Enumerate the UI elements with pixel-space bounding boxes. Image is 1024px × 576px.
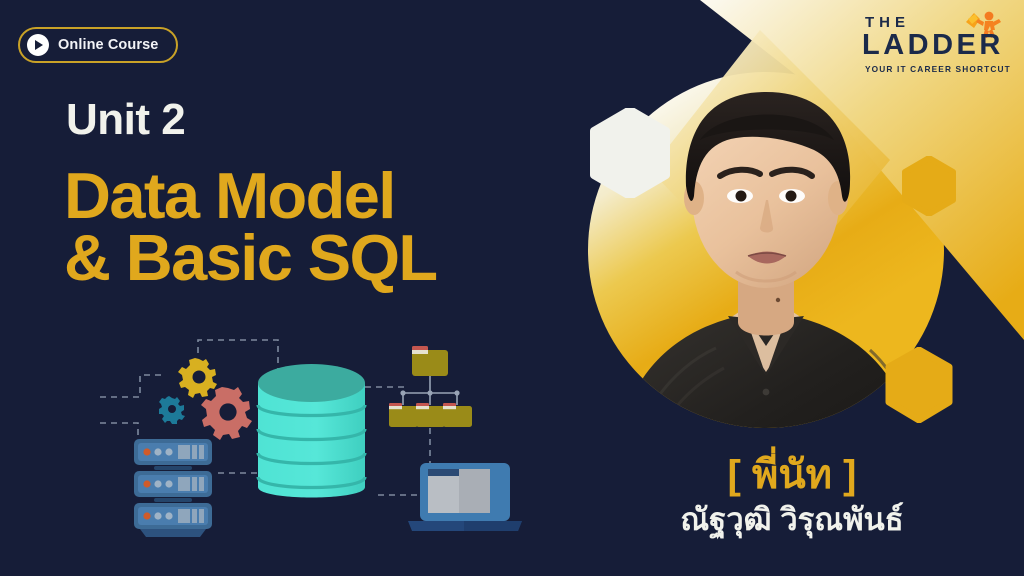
hexagon-cream-icon xyxy=(588,108,672,198)
logo-word-ladder: LADDER xyxy=(862,31,1004,60)
gears-icon xyxy=(159,358,252,440)
title-line-2: & Basic SQL xyxy=(64,227,584,289)
database-illustration: DATABASE xyxy=(100,335,540,560)
logo-tagline: YOUR IT CAREER SHORTCUT xyxy=(865,64,1011,74)
server-rack-icon xyxy=(134,439,212,537)
hexagon-gold-small-icon xyxy=(901,156,957,216)
online-course-label: Online Course xyxy=(58,37,158,53)
slide-canvas: THE LADDER YOUR IT CAREER SHORTCUT Onlin… xyxy=(0,0,1024,576)
speaker-nickname: [ พี่นัท ] xyxy=(560,455,1024,495)
page-title: Data Model & Basic SQL xyxy=(64,165,584,289)
unit-number: Unit 2 xyxy=(66,98,185,142)
play-icon xyxy=(27,34,49,56)
online-course-badge[interactable]: Online Course xyxy=(18,27,178,63)
hexagon-gold-large-icon xyxy=(884,347,954,423)
brand-logo[interactable]: THE LADDER YOUR IT CAREER SHORTCUT xyxy=(862,14,1012,76)
speaker-fullname: ณัฐวุฒิ วิรุณพันธ์ xyxy=(560,502,1024,538)
database-cylinder-icon xyxy=(258,364,365,498)
laptop-icon xyxy=(408,463,522,531)
